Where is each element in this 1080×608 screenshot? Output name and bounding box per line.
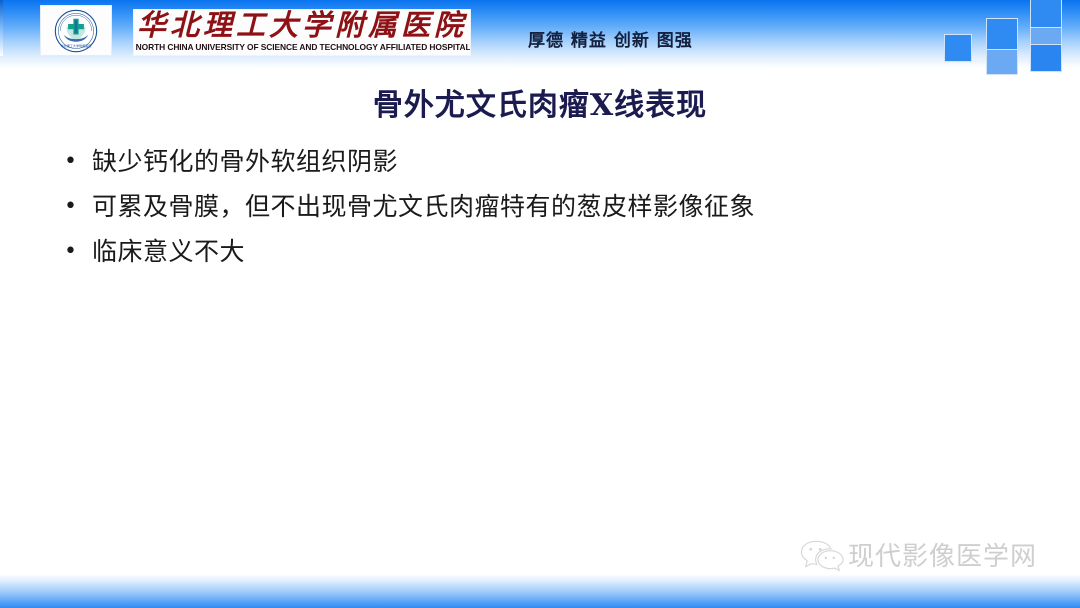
slide-title: 骨外尤文氏肉瘤X线表现 (0, 80, 1080, 124)
bullet-text: 临床意义不大 (92, 232, 245, 272)
decor-square-1 (944, 34, 972, 62)
hospital-emblem-icon: 华北理工大学附属医院 (54, 9, 98, 53)
slide-header: 华北理工大学附属医院 华北理工大学附属医院 NORTH CHINA UNIVER… (0, 0, 1080, 68)
slide-bullet-list: • 缺少钙化的骨外软组织阴影 • 可累及骨膜，但不出现骨尤文氏肉瘤特有的葱皮样影… (58, 142, 1028, 277)
hospital-motto: 厚德 精益 创新 图强 (528, 26, 693, 51)
decor-square-3 (986, 49, 1018, 75)
hospital-name-en: NORTH CHINA UNIVERSITY OF SCIENCE AND TE… (136, 42, 469, 52)
bullet-text: 可累及骨膜，但不出现骨尤文氏肉瘤特有的葱皮样影像征象 (92, 187, 755, 227)
decor-square-4 (1030, 0, 1062, 28)
decor-square-6 (1030, 44, 1062, 72)
bullet-marker-icon: • (58, 142, 92, 182)
decor-square-5 (1030, 27, 1062, 45)
site-watermark: 现代影像医学网 (800, 536, 1037, 573)
presentation-slide: 华北理工大学附属医院 华北理工大学附属医院 NORTH CHINA UNIVER… (0, 0, 1080, 608)
hospital-name-plate: 华北理工大学附属医院 NORTH CHINA UNIVERSITY OF SCI… (133, 9, 471, 56)
bullet-text: 缺少钙化的骨外软组织阴影 (92, 142, 398, 182)
hospital-name-cn: 华北理工大学附属医院 (134, 9, 470, 42)
list-item: • 临床意义不大 (58, 232, 1028, 277)
list-item: • 可累及骨膜，但不出现骨尤文氏肉瘤特有的葱皮样影像征象 (58, 187, 1028, 232)
bullet-marker-icon: • (58, 232, 92, 272)
svg-text:华北理工大学附属医院: 华北理工大学附属医院 (61, 42, 92, 47)
watermark-label: 现代影像医学网 (848, 536, 1037, 573)
hospital-logo-card: 华北理工大学附属医院 (40, 5, 112, 56)
header-left-edge (0, 0, 3, 56)
bullet-marker-icon: • (58, 187, 92, 227)
header-decorative-squares (930, 0, 1080, 68)
list-item: • 缺少钙化的骨外软组织阴影 (58, 142, 1028, 187)
wechat-icon (800, 538, 846, 572)
slide-footer (0, 574, 1080, 608)
decor-square-2 (986, 18, 1018, 50)
